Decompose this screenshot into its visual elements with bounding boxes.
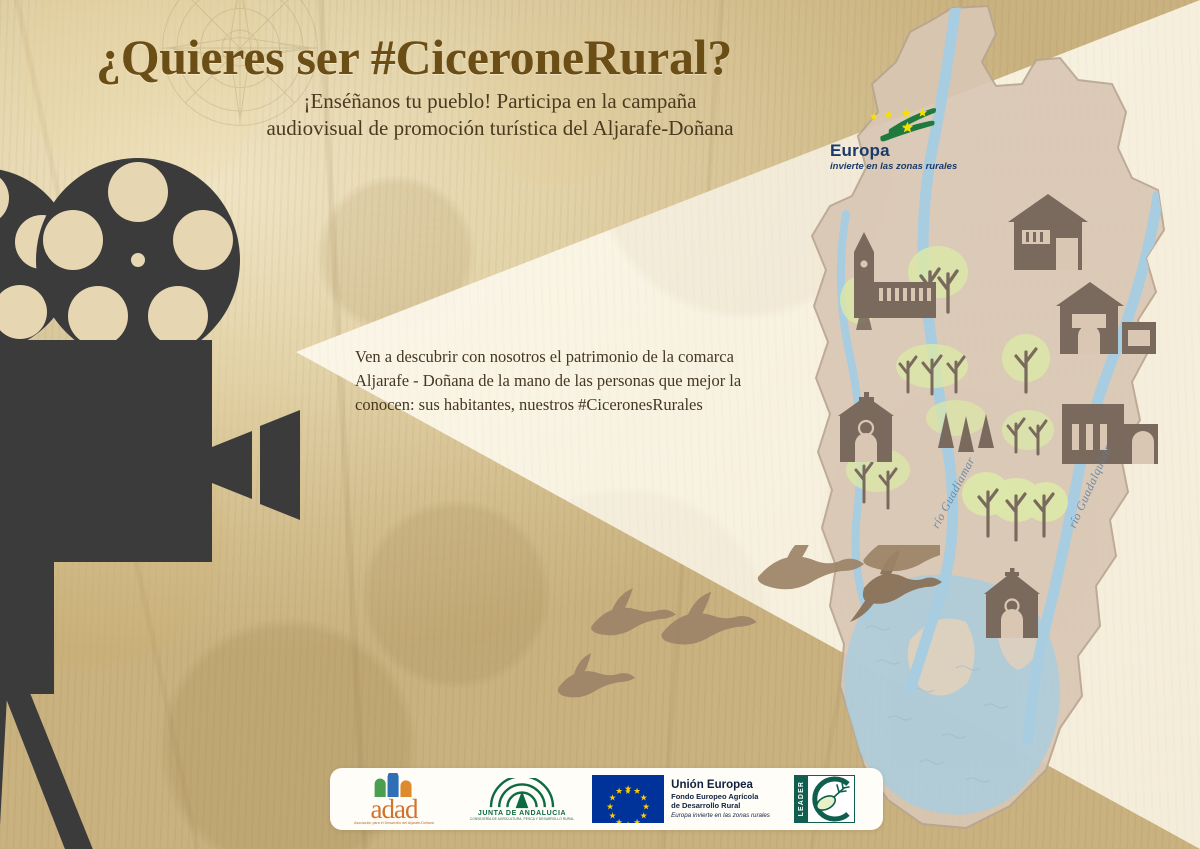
bird-silhouette — [558, 653, 635, 697]
eu-line-2: de Desarrollo Rural — [671, 801, 770, 810]
body-line-1: Ven a descubrir con nosotros el patrimon… — [355, 345, 865, 369]
junta-arcs-icon — [485, 778, 559, 809]
leader-leaf-icon — [808, 776, 854, 822]
bird-silhouette — [758, 545, 864, 589]
flying-birds-group — [540, 545, 940, 765]
eu-title: Unión Europea — [671, 779, 770, 792]
footer-logo-bar: adad Asociación para el Desarrollo del A… — [330, 768, 883, 830]
projector-lens — [212, 410, 300, 520]
page-title: ¿Quieres ser #CiceroneRural? — [96, 28, 896, 86]
bird-silhouette — [662, 592, 757, 645]
europa-swoosh-icon — [868, 99, 966, 143]
body-line-3: conocen: sus habitantes, nuestros #Cicer… — [355, 393, 865, 417]
logo-junta-andalucia: JUNTA DE ANDALUCIA CONSEJERÍA DE AGRICUL… — [458, 768, 586, 830]
body-line-2: Aljarafe - Doñana de la mano de las pers… — [355, 369, 865, 393]
subtitle-line-1: ¡Enséñanos tu pueblo! Participa en la ca… — [100, 88, 900, 115]
page-subtitle: ¡Enséñanos tu pueblo! Participa en la ca… — [100, 88, 900, 142]
poster-canvas: río Guadiamar río Guadalquivir — [0, 0, 1200, 849]
eu-flag-icon — [592, 775, 664, 823]
film-projector-illustration — [0, 150, 320, 849]
projector-mount — [0, 562, 54, 694]
eu-tagline: Europa invierte en las zonas rurales — [671, 812, 770, 819]
adad-wordmark: adad — [354, 798, 434, 821]
adad-tagline: Asociación para el Desarrollo del Aljara… — [354, 821, 434, 825]
junta-wordmark: JUNTA DE ANDALUCIA — [470, 810, 574, 817]
bird-silhouette — [591, 588, 676, 635]
projector-body — [0, 340, 212, 562]
logo-leader: LEADER — [776, 768, 872, 830]
eu-line-1: Fondo Europeo Agrícola — [671, 792, 770, 801]
junta-tagline: CONSEJERÍA DE AGRICULTURA, PESCA Y DESAR… — [470, 817, 574, 821]
bird-silhouette — [863, 545, 940, 571]
logo-adad: adad Asociación para el Desarrollo del A… — [330, 768, 458, 830]
tripod-leg-right — [0, 678, 98, 849]
europa-logo: Europa invierte en las zonas rurales — [826, 103, 966, 181]
leader-wordmark: LEADER — [798, 781, 805, 816]
logo-union-europea: Unión Europea Fondo Europeo Agrícola de … — [586, 768, 776, 830]
europa-logo-tagline: invierte en las zonas rurales — [830, 161, 957, 172]
europa-logo-word: Europa — [830, 141, 890, 161]
tripod-leg-center — [0, 678, 8, 849]
body-copy: Ven a descubrir con nosotros el patrimon… — [355, 345, 865, 417]
subtitle-line-2: audiovisual de promoción turística del A… — [100, 115, 900, 142]
film-reel-right — [36, 158, 240, 362]
